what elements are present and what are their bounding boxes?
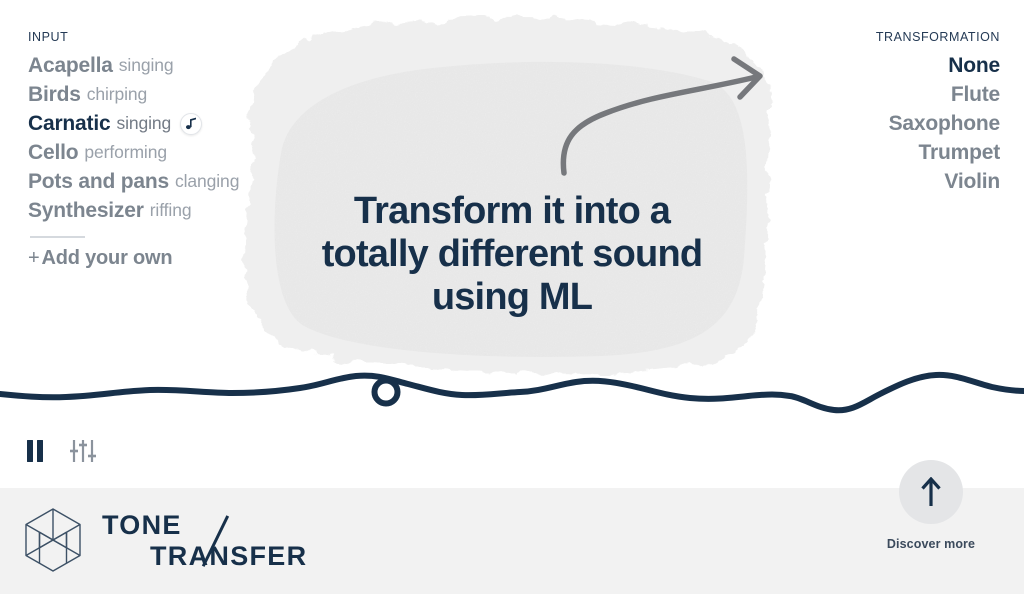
input-option-action: singing — [119, 51, 174, 80]
transformation-option-list: None Flute Saxophone Trumpet Violin — [740, 51, 1000, 196]
waveform-line — [0, 375, 1024, 410]
input-option-action: chirping — [87, 80, 147, 109]
cube-logo-icon — [22, 507, 84, 573]
brand-logo[interactable]: TONE TRANSFER — [22, 507, 320, 573]
transformation-option-name: Saxophone — [889, 109, 1000, 138]
transformation-option-none[interactable]: None — [740, 51, 1000, 80]
brand-transfer-text: TRANSFER — [150, 541, 307, 572]
input-option-acapella[interactable]: Acapella singing — [28, 51, 278, 80]
transformation-option-trumpet[interactable]: Trumpet — [740, 138, 1000, 167]
input-option-carnatic[interactable]: Carnatic singing — [28, 109, 278, 138]
brand-wordmark: TONE TRANSFER — [102, 507, 320, 573]
input-option-name: Birds — [28, 80, 81, 109]
discover-more-circle[interactable] — [899, 460, 963, 524]
input-option-birds[interactable]: Birds chirping — [28, 80, 278, 109]
headline-line-2: totally different sound — [0, 233, 1024, 276]
playhead-handle[interactable] — [375, 381, 398, 404]
arrow-up-icon — [920, 477, 942, 507]
headline-line-1: Transform it into a — [0, 190, 1024, 233]
transport-controls — [26, 438, 96, 464]
transformation-option-name: Trumpet — [919, 138, 1000, 167]
transformation-option-name: Flute — [951, 80, 1000, 109]
bottom-bar: TONE TRANSFER Discover more — [0, 488, 1024, 594]
input-option-action: performing — [84, 138, 167, 167]
input-option-action: singing — [116, 109, 171, 138]
pause-button[interactable] — [26, 440, 44, 462]
input-option-name: Cello — [28, 138, 78, 167]
discover-more-label: Discover more — [864, 537, 998, 551]
input-option-name: Carnatic — [28, 109, 110, 138]
transformation-option-flute[interactable]: Flute — [740, 80, 1000, 109]
music-note-icon[interactable] — [180, 113, 202, 135]
discover-more-button[interactable]: Discover more — [864, 460, 998, 551]
mixer-settings-button[interactable] — [70, 438, 96, 464]
transformation-panel-label: TRANSFORMATION — [740, 30, 1000, 44]
headline-line-3: using ML — [0, 276, 1024, 319]
input-option-cello[interactable]: Cello performing — [28, 138, 278, 167]
transformation-option-name: None — [948, 51, 1000, 80]
pause-icon — [26, 440, 44, 462]
transformation-panel: TRANSFORMATION None Flute Saxophone Trum… — [740, 30, 1000, 196]
stage: INPUT Acapella singing Birds chirping Ca… — [0, 0, 1024, 488]
brand-tone-text: TONE — [102, 510, 182, 541]
sliders-icon — [70, 438, 96, 464]
waveform-scrubber[interactable] — [0, 358, 1024, 430]
page-headline: Transform it into a totally different so… — [0, 190, 1024, 319]
input-option-name: Acapella — [28, 51, 113, 80]
transformation-option-saxophone[interactable]: Saxophone — [740, 109, 1000, 138]
input-panel-label: INPUT — [28, 30, 278, 44]
